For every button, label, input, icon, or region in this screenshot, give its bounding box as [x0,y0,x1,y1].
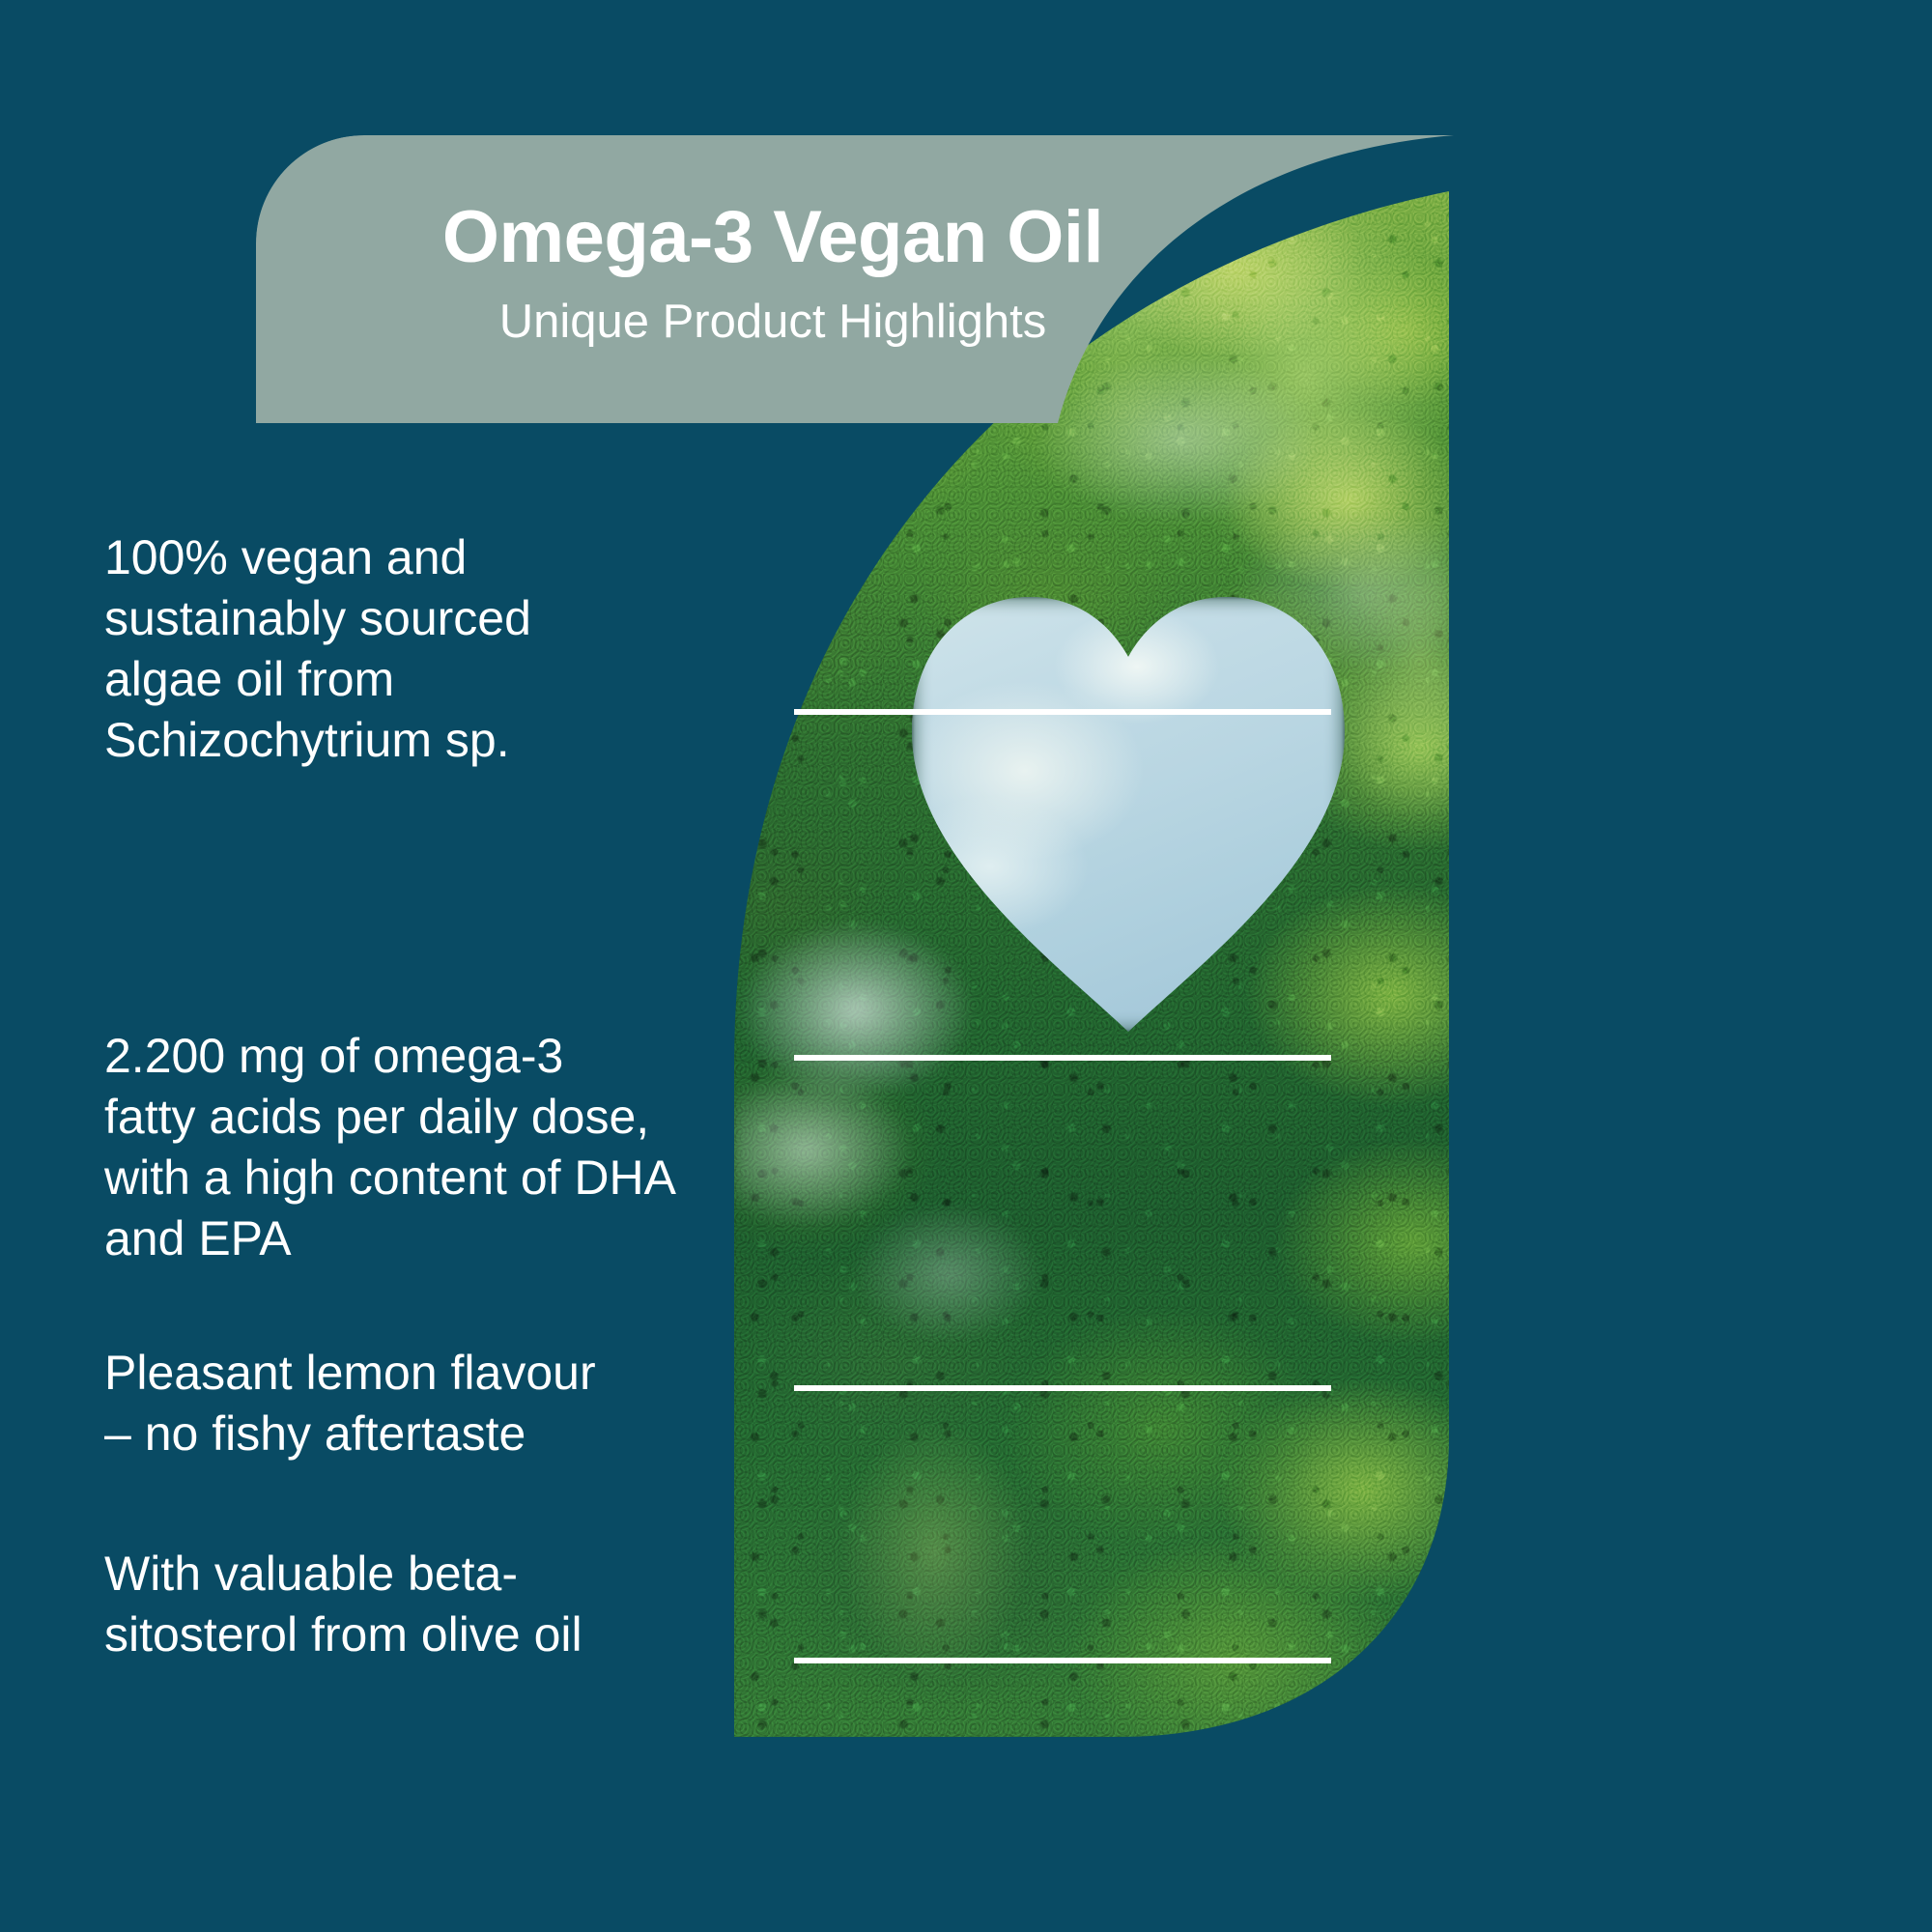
highlight-item-beta-sitosterol: With valuable beta- sitosterol from oliv… [104,1544,703,1665]
poster-canvas: Omega-3 Vegan Oil Unique Product Highlig… [0,0,1932,1932]
highlights-list: 100% vegan and sustainably sourced algae… [0,0,1932,1932]
highlight-item-omega-3-dose: 2.200 mg of omega-3 fatty acids per dail… [104,1026,684,1269]
highlight-item-lemon-flavour: Pleasant lemon flavour – no fishy aftert… [104,1343,703,1464]
highlight-item-vegan-sourcing: 100% vegan and sustainably sourced algae… [104,527,645,771]
